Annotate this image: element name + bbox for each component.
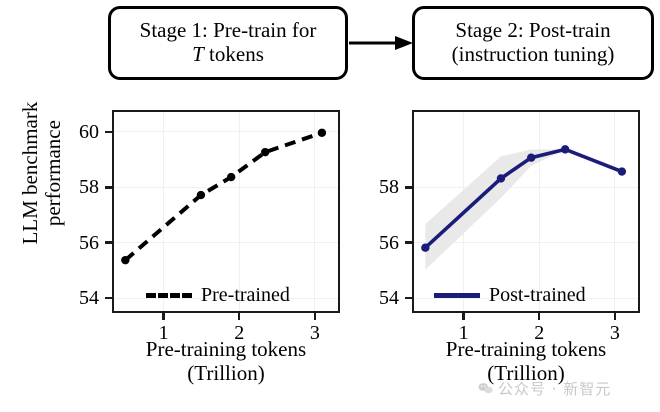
data-point xyxy=(618,167,626,175)
y-tick-mark xyxy=(105,186,112,189)
x-tick-mark xyxy=(614,313,617,320)
series-layer xyxy=(114,112,337,310)
wechat-icon xyxy=(478,382,493,395)
x-tick-label: 2 xyxy=(527,323,551,343)
y-tick-label: 54 xyxy=(359,288,399,308)
watermark: 公众号 · 新智元 xyxy=(478,378,611,399)
plot-area-posttrained xyxy=(412,110,640,313)
stage-2-box: Stage 2: Post-train (instruction tuning) xyxy=(412,6,654,80)
stage-1-line-2: T tokens xyxy=(192,43,264,67)
legend-right: Post-trained xyxy=(434,284,586,307)
x-tick-label: 1 xyxy=(452,323,476,343)
y-tick-mark xyxy=(105,131,112,134)
data-point xyxy=(527,153,535,161)
plot-area-pretrained xyxy=(112,110,340,313)
x-tick-mark xyxy=(238,313,241,320)
arrow-right-icon xyxy=(349,36,413,50)
x-tick-label: 2 xyxy=(227,323,251,343)
watermark-text: 公众号 · 新智元 xyxy=(498,378,611,399)
x-tick-mark xyxy=(462,313,465,320)
y-tick-mark xyxy=(105,297,112,300)
stage-2-line-2: (instruction tuning) xyxy=(452,43,615,67)
x-tick-label: 1 xyxy=(152,323,176,343)
stage-1-line-1: Stage 1: Pre-train for xyxy=(140,19,317,43)
legend-label: Pre-trained xyxy=(201,284,290,307)
data-point xyxy=(497,174,505,182)
stage-1-token-symbol: T xyxy=(192,42,204,66)
y-tick-label: 58 xyxy=(59,177,99,197)
series-layer xyxy=(414,112,637,310)
stage-1-token-word: tokens xyxy=(204,42,264,66)
y-tick-mark xyxy=(405,241,412,244)
data-point xyxy=(227,173,235,181)
legend-swatch xyxy=(434,293,480,298)
legend-label: Post-trained xyxy=(489,284,586,307)
stage-1-box: Stage 1: Pre-train for T tokens xyxy=(108,6,348,80)
stage-2-line-1: Stage 2: Post-train xyxy=(455,19,610,43)
y-tick-label: 56 xyxy=(359,233,399,253)
x-tick-label: 3 xyxy=(603,323,627,343)
y-tick-mark xyxy=(405,186,412,189)
x-tick-label: 3 xyxy=(303,323,327,343)
data-point xyxy=(261,148,269,156)
data-point xyxy=(121,256,129,264)
y-tick-mark xyxy=(405,297,412,300)
data-point xyxy=(561,145,569,153)
y-tick-mark xyxy=(105,241,112,244)
x-axis-title-left: Pre-training tokens (Trillion) xyxy=(112,338,340,385)
y-tick-label: 58 xyxy=(359,177,399,197)
x-tick-mark xyxy=(314,313,317,320)
legend-swatch xyxy=(146,293,192,298)
x-tick-mark xyxy=(162,313,165,320)
x-tick-mark xyxy=(538,313,541,320)
data-point xyxy=(318,129,326,137)
confidence-band xyxy=(425,149,622,269)
y-tick-label: 54 xyxy=(59,288,99,308)
legend-left: Pre-trained xyxy=(146,284,290,307)
y-tick-label: 60 xyxy=(59,122,99,142)
y-tick-label: 56 xyxy=(59,233,99,253)
data-point xyxy=(197,191,205,199)
data-point xyxy=(421,243,429,251)
series-line xyxy=(125,133,322,260)
